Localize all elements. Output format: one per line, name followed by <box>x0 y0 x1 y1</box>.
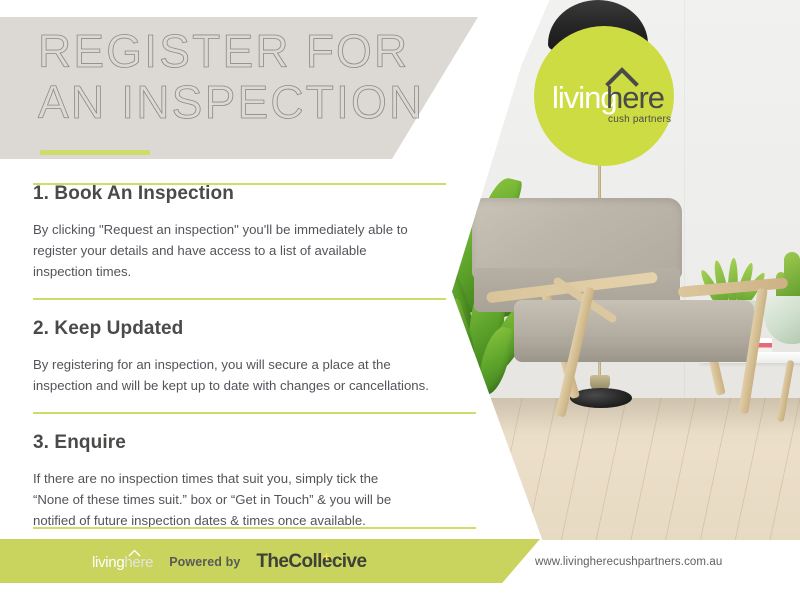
section-keep-updated: 2. Keep Updated By registering for an in… <box>33 318 503 396</box>
star-icon <box>322 552 331 561</box>
footer-website-url[interactable]: www.livingherecushpartners.com.au <box>535 556 722 568</box>
section-divider <box>33 412 476 414</box>
footer-logo: livinghere <box>92 554 153 571</box>
section-divider <box>33 298 446 300</box>
plant-pot <box>764 296 800 344</box>
section-body: If there are no inspection times that su… <box>33 468 503 531</box>
section-body: By clicking "Request an inspection" you'… <box>33 219 503 282</box>
section-book-an-inspection: 1. Book An Inspection By clicking "Reque… <box>33 183 503 282</box>
logo-tagline: cush partners <box>608 114 671 125</box>
section-title: 1. Book An Inspection <box>33 183 503 205</box>
partner-logo: TheCollecive <box>256 551 366 573</box>
section-body: By registering for an inspection, you wi… <box>33 354 503 396</box>
logo-word-here: here <box>606 80 664 115</box>
content-column: 1. Book An Inspection By clicking "Reque… <box>0 0 520 600</box>
section-title: 3. Enquire <box>33 432 503 454</box>
partner-name-collec: Collec <box>288 551 341 572</box>
footer-logo-living: living <box>92 554 124 571</box>
footer-brand-group: livinghere Powered by TheCollecive <box>92 551 366 573</box>
brand-logo: living here cush partners <box>534 26 684 176</box>
armchair-seat-front <box>514 340 756 362</box>
floor-lamp-base <box>570 388 632 408</box>
house-roof-icon <box>128 549 141 557</box>
partner-name-the: The <box>256 551 288 572</box>
poster-canvas: living here cush partners REGISTER FOR A… <box>0 0 800 600</box>
section-divider <box>33 527 476 529</box>
section-title: 2. Keep Updated <box>33 318 503 340</box>
powered-by-label: Powered by <box>169 555 240 569</box>
partner-name-ive: ive <box>342 551 367 572</box>
section-enquire: 3. Enquire If there are no inspection ti… <box>33 432 503 531</box>
